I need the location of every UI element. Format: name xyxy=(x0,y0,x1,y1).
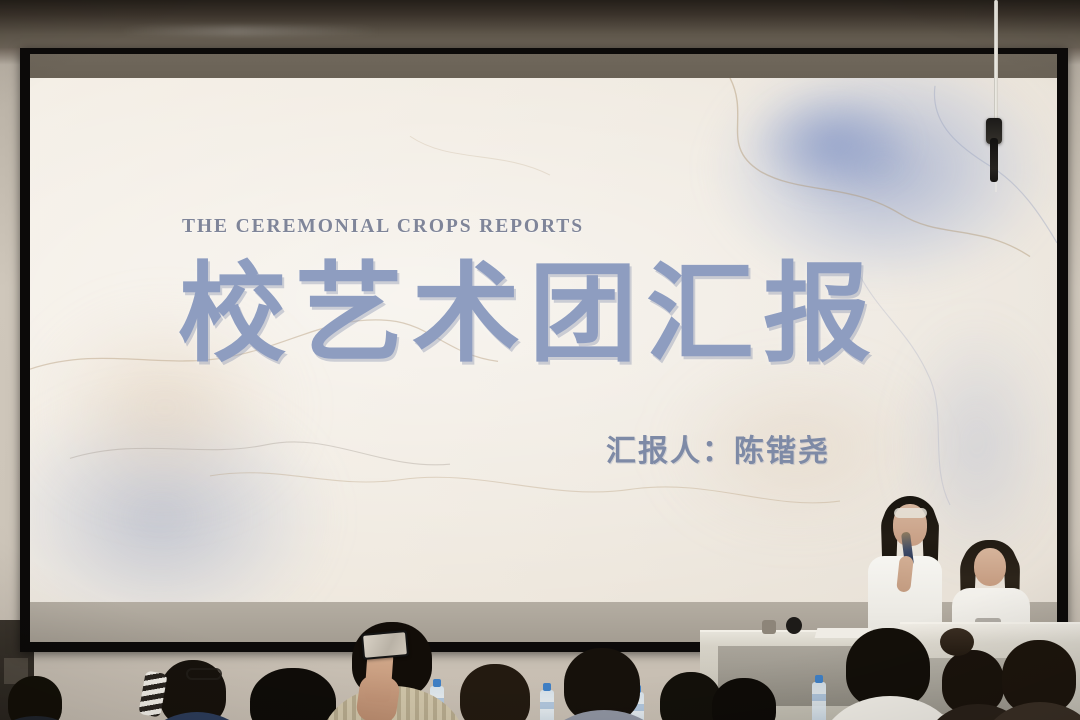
glasses-icon xyxy=(186,668,222,680)
smartphone-camera[interactable] xyxy=(361,630,409,660)
screen-pull-handle-icon[interactable] xyxy=(986,118,1002,144)
desk-object-small xyxy=(762,620,776,634)
audience-head xyxy=(8,676,62,720)
phone-screen xyxy=(363,632,407,658)
water-bottle-3 xyxy=(812,682,826,720)
presenter-headband xyxy=(894,508,927,518)
hair-bun xyxy=(940,628,974,656)
assistant-head xyxy=(974,548,1006,586)
screen-pull-rod[interactable] xyxy=(994,0,998,128)
water-bottle-2 xyxy=(540,690,554,720)
audience-head xyxy=(460,664,530,720)
stage-area xyxy=(0,0,1080,720)
presentation-photo: THE CEREMONIAL CROPS REPORTS 校艺术团汇报 汇报人：… xyxy=(0,0,1080,720)
desk-object-round xyxy=(786,617,802,634)
